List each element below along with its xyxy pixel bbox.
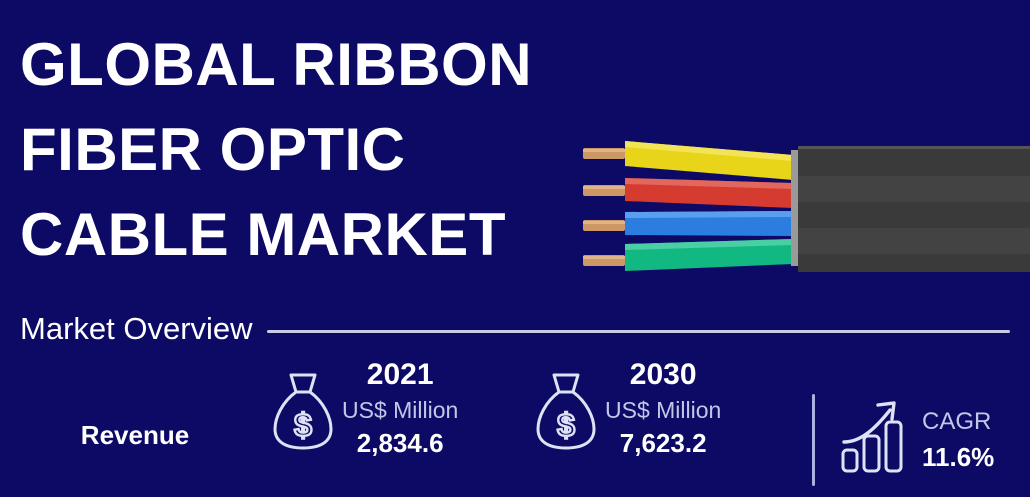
page-title: GLOBAL RIBBON FIBER OPTIC CABLE MARKET [20, 22, 620, 277]
cagr-label: CAGR [922, 410, 991, 434]
stat-text-2030: 2030 US$ Million 7,623.2 [605, 360, 721, 456]
stat-year: 2021 [367, 360, 434, 390]
stat-unit: US$ Million [605, 399, 721, 422]
stat-group-2030: $ 2030 US$ Million 7,623.2 [535, 360, 721, 456]
horizontal-rule [267, 330, 1010, 333]
cagr-text: CAGR 11.6% [922, 410, 994, 474]
stat-unit: US$ Million [342, 399, 458, 422]
market-overview-header: Market Overview [20, 310, 1010, 348]
cagr-group: CAGR 11.6% [840, 398, 994, 474]
ribbon-fiber-optic-cable-illustration [565, 128, 1030, 288]
stat-text-2021: 2021 US$ Million 2,834.6 [342, 360, 458, 456]
cable-ferrule [791, 150, 798, 266]
growth-chart-icon [840, 398, 912, 474]
stat-value: 2,834.6 [357, 430, 444, 456]
svg-text:$: $ [557, 407, 575, 443]
market-overview-label: Market Overview [20, 311, 253, 347]
stat-year: 2030 [630, 360, 697, 390]
ribbon-strand-group [625, 141, 793, 271]
title-line-3: CABLE MARKET [20, 192, 620, 277]
cagr-value: 11.6% [922, 444, 994, 470]
stat-value: 7,623.2 [620, 430, 707, 456]
infographic-canvas: GLOBAL RIBBON FIBER OPTIC CABLE MARKET M… [0, 0, 1030, 497]
money-bag-icon: $ [272, 370, 334, 452]
revenue-row-label: Revenue [60, 420, 210, 451]
stat-group-2021: $ 2021 US$ Million 2,834.6 [272, 360, 458, 456]
cable-jacket [798, 146, 1030, 272]
svg-text:$: $ [294, 407, 312, 443]
money-bag-icon: $ [535, 370, 597, 452]
title-line-2: FIBER OPTIC [20, 107, 620, 192]
title-line-1: GLOBAL RIBBON [20, 22, 620, 107]
vertical-divider [812, 394, 815, 486]
